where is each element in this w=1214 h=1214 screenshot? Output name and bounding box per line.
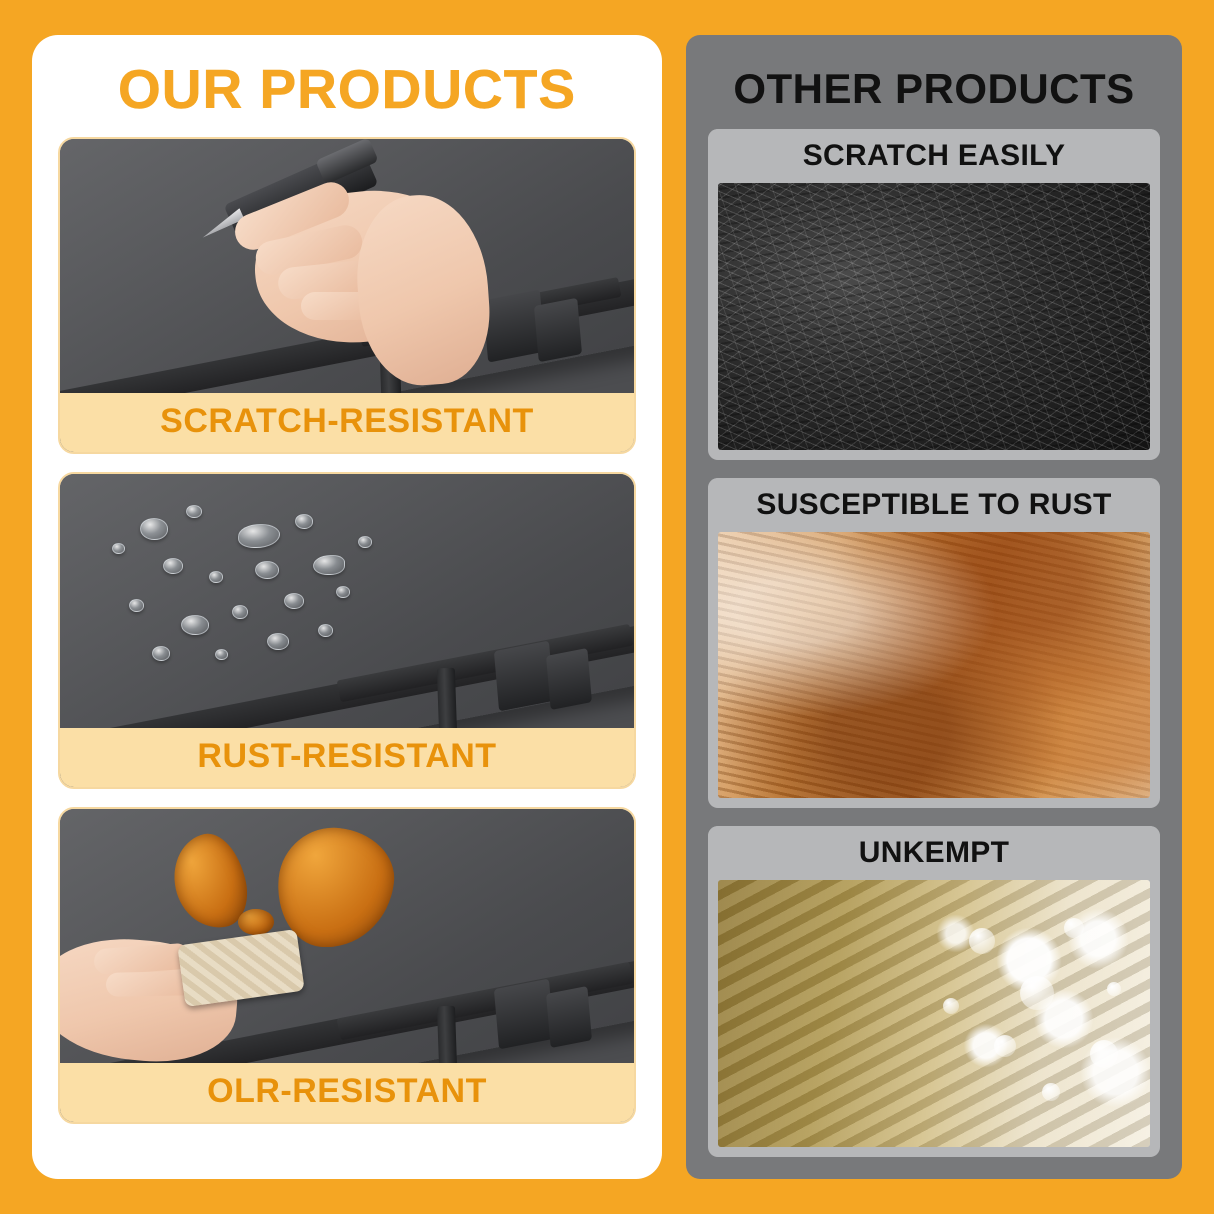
other-product-card-susceptible-to-rust: SUSCEPTIBLE TO RUST — [708, 478, 1160, 809]
grease-bubble — [1042, 1083, 1060, 1101]
grease-bubble — [1090, 1040, 1118, 1068]
scratched-metal-texture-image — [718, 183, 1150, 450]
other-product-label-susceptible-to-rust: SUSCEPTIBLE TO RUST — [708, 478, 1160, 532]
water-droplet — [152, 646, 170, 661]
water-droplet — [284, 593, 304, 609]
water-droplet — [140, 518, 168, 540]
our-products-title: OUR PRODUCTS — [58, 61, 636, 119]
oil-droplet — [238, 909, 274, 935]
other-product-card-unkempt: UNKEMPT — [708, 826, 1160, 1157]
desk-bracket-right — [534, 297, 582, 361]
product-label-scratch-resistant: SCRATCH-RESISTANT — [60, 393, 634, 452]
water-droplet — [336, 586, 350, 598]
oil-texture — [718, 880, 1150, 1147]
rusted-metal-texture-image — [718, 532, 1150, 799]
product-label-rust-resistant: RUST-RESISTANT — [60, 728, 634, 787]
desk-bracket-right — [546, 986, 592, 1048]
water-droplet — [209, 571, 223, 583]
product-card-rust-resistant: RUST-RESISTANT — [58, 472, 636, 789]
grease-bubble — [943, 998, 959, 1014]
water-droplet — [186, 505, 202, 518]
product-card-oil-resistant: OLR-RESISTANT — [58, 807, 636, 1124]
other-products-panel: OTHER PRODUCTS SCRATCH EASILY SUSCEPTIBL… — [686, 35, 1182, 1179]
product-card-scratch-resistant: SCRATCH-RESISTANT — [58, 137, 636, 454]
our-products-panel: OUR PRODUCTS — [32, 35, 662, 1179]
grease-bubble — [1064, 918, 1084, 938]
water-droplet — [318, 624, 333, 637]
water-droplet — [215, 649, 228, 660]
scratch-texture — [718, 183, 1150, 450]
other-product-label-unkempt: UNKEMPT — [708, 826, 1160, 880]
product-label-oil-resistant: OLR-RESISTANT — [60, 1063, 634, 1122]
grease-bubble — [1107, 982, 1121, 996]
other-products-title: OTHER PRODUCTS — [708, 65, 1160, 113]
other-product-card-scratch-easily: SCRATCH EASILY — [708, 129, 1160, 460]
water-droplet — [267, 633, 289, 650]
oily-greasy-surface-texture-image — [718, 880, 1150, 1147]
infographic-page: OUR PRODUCTS — [0, 0, 1214, 1214]
water-droplet — [129, 599, 144, 612]
water-droplet — [313, 555, 345, 575]
desk-bracket-left — [494, 979, 554, 1050]
rust-texture — [718, 532, 1150, 799]
water-droplet — [112, 543, 125, 554]
desk-bracket-left — [494, 640, 554, 711]
desk-bracket-right — [546, 648, 592, 710]
grease-bubble — [969, 928, 995, 954]
other-product-label-scratch-easily: SCRATCH EASILY — [708, 129, 1160, 183]
water-droplet — [181, 615, 209, 635]
